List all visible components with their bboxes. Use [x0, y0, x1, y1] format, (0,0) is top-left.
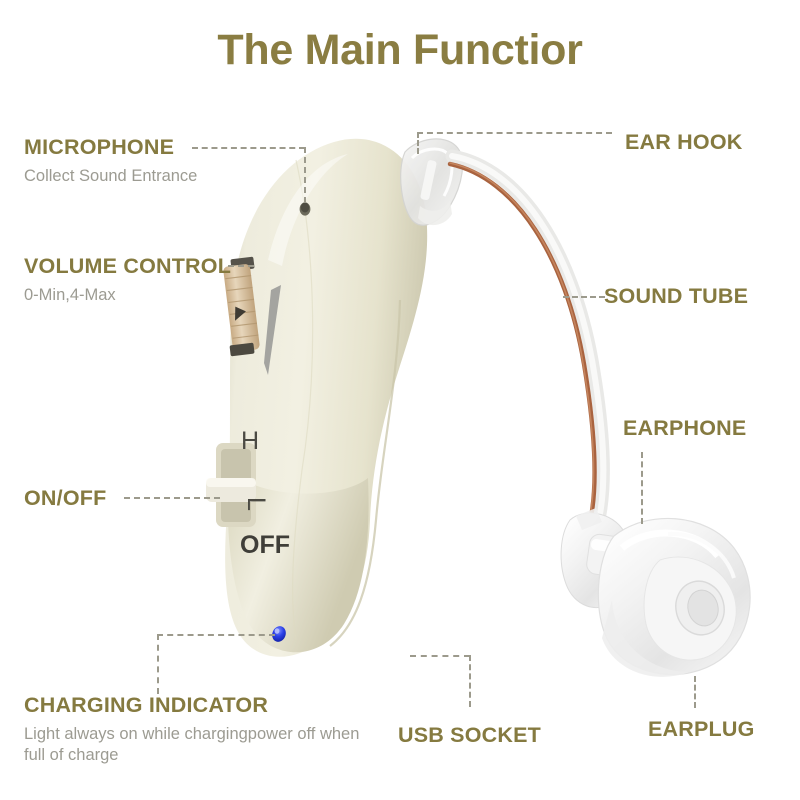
body-accent-stripe [264, 285, 281, 375]
body-highlight [268, 154, 348, 266]
power-switch[interactable] [206, 443, 256, 527]
earplug-dome [598, 518, 750, 676]
sound-tube-shell [452, 156, 603, 524]
connector-soundtube-h [563, 296, 605, 298]
callout-earphone: EARPHONE [623, 417, 746, 440]
callout-sound-tube-title: SOUND TUBE [604, 285, 748, 308]
callout-usb-socket-title: USB SOCKET [398, 724, 541, 747]
diagram-canvas: The Main Functior [0, 0, 800, 800]
switch-label-low: L [242, 497, 270, 511]
connector-usb-v [469, 655, 471, 707]
connector-usb-h [410, 655, 470, 657]
connector-earhook-v [417, 132, 419, 154]
callout-sound-tube: SOUND TUBE [604, 285, 748, 308]
callout-charging-indicator: CHARGING INDICATOR Light always on while… [24, 694, 369, 766]
sound-tube-highlight [452, 156, 603, 524]
volume-arrow-icon [233, 305, 247, 320]
connector-microphone-v [304, 147, 306, 203]
connector-earhook-h [417, 132, 612, 134]
ear-hook [401, 139, 463, 225]
page-title: The Main Functior [0, 26, 800, 75]
connector-volume-h [228, 265, 254, 267]
callout-charging-indicator-subtitle: Light always on while chargingpower off … [24, 724, 369, 766]
switch-label-high: H [241, 427, 259, 455]
callout-ear-hook: EAR HOOK [625, 131, 742, 154]
connector-earplug-v [694, 676, 696, 708]
callout-microphone-subtitle: Collect Sound Entrance [24, 166, 197, 187]
body-seam [293, 160, 313, 640]
callout-volume-control-subtitle: 0-Min,4-Max [24, 285, 231, 306]
connector-onoff-h [124, 497, 220, 499]
microphone-port-inner [301, 203, 309, 213]
callout-earplug-title: EARPLUG [648, 718, 755, 741]
sound-tube-wire [450, 164, 595, 522]
earphone-receiver [561, 508, 635, 608]
callout-earplug: EARPLUG [648, 718, 755, 741]
device-body-lower [228, 470, 369, 652]
callout-onoff: ON/OFF [24, 487, 106, 510]
connector-microphone-h [192, 147, 305, 149]
connector-earphone-v [641, 452, 643, 524]
callout-ear-hook-title: EAR HOOK [625, 131, 742, 154]
callout-charging-indicator-title: CHARGING INDICATOR [24, 694, 369, 717]
device-body [225, 139, 427, 657]
hearing-aid-illustration: H L OFF [0, 0, 800, 800]
switch-label-off: OFF [240, 531, 290, 559]
microphone-port [300, 202, 311, 215]
connector-charging-h [157, 634, 275, 636]
callout-onoff-title: ON/OFF [24, 487, 106, 510]
callout-volume-control: VOLUME CONTROL 0-Min,4-Max [24, 255, 231, 306]
connector-charging-v [157, 634, 159, 694]
sound-tube-wire-highlight [450, 163, 594, 521]
callout-volume-control-title: VOLUME CONTROL [24, 255, 231, 278]
charging-led-glint [275, 628, 280, 634]
callout-microphone-title: MICROPHONE [24, 136, 197, 159]
callout-microphone: MICROPHONE Collect Sound Entrance [24, 136, 197, 187]
body-crease [330, 300, 400, 646]
callout-usb-socket: USB SOCKET [398, 724, 541, 747]
callout-earphone-title: EARPHONE [623, 417, 746, 440]
